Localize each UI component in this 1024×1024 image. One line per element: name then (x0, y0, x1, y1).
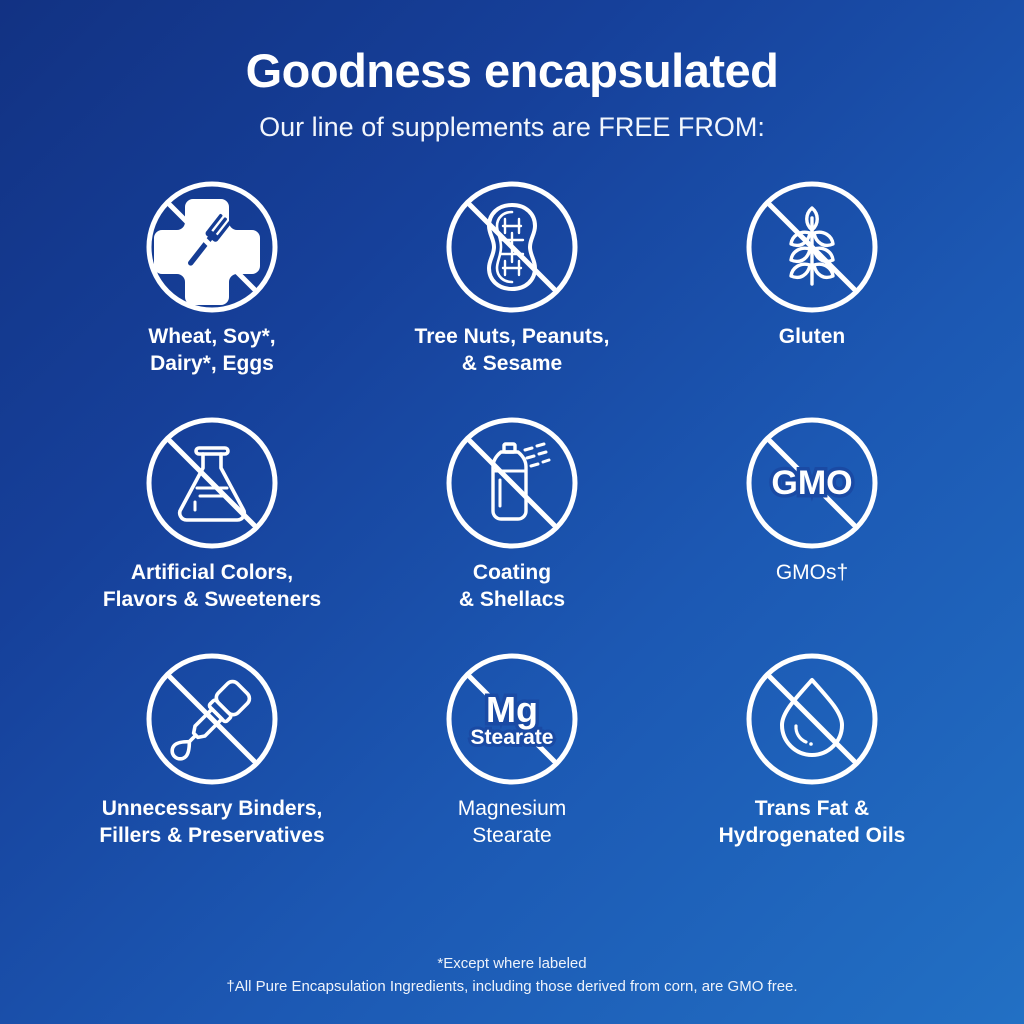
no-dropper-icon (143, 650, 281, 788)
infographic-poster: Goodness encapsulated Our line of supple… (0, 0, 1024, 1024)
grid-item-label: Magnesium Stearate (458, 796, 567, 850)
no-peanut-icon (443, 178, 581, 316)
stearate-inner-text: Stearate (471, 726, 554, 749)
no-magnesium-stearate-text-icon: Mg Stearate (443, 650, 581, 788)
no-flask-icon (143, 414, 281, 552)
no-spray-can-icon (443, 414, 581, 552)
grid-item-magnesium-stearate: Mg Stearate Magnesium Stearate (362, 650, 662, 886)
free-from-grid: Wheat, Soy*, Dairy*, Eggs (62, 178, 962, 886)
header: Goodness encapsulated Our line of supple… (0, 0, 1024, 142)
grid-item-label: Trans Fat & Hydrogenated Oils (719, 796, 906, 850)
grid-item-label: Gluten (779, 324, 846, 351)
mg-inner-text: Mg (486, 689, 538, 730)
grid-item-coating: Coating & Shellacs (362, 414, 662, 650)
no-oil-droplet-icon (743, 650, 881, 788)
page-title: Goodness encapsulated (0, 46, 1024, 97)
grid-item-label: Unnecessary Binders, Fillers & Preservat… (99, 796, 324, 850)
grid-item-gluten: Gluten (662, 178, 962, 414)
no-wheat-stalk-icon (743, 178, 881, 316)
gmo-inner-text: GMO (771, 464, 852, 502)
no-gmo-text-icon: GMO (743, 414, 881, 552)
grid-item-gmo: GMO GMOs† (662, 414, 962, 650)
grid-item-label: Tree Nuts, Peanuts, & Sesame (415, 324, 610, 378)
no-allergen-cross-fork-icon (143, 178, 281, 316)
grid-item-label: Coating & Shellacs (459, 560, 565, 614)
page-subtitle: Our line of supplements are FREE FROM: (0, 113, 1024, 143)
grid-item-label: GMOs† (776, 560, 848, 587)
grid-item-label: Artificial Colors, Flavors & Sweeteners (103, 560, 321, 614)
grid-item-binders: Unnecessary Binders, Fillers & Preservat… (62, 650, 362, 886)
grid-item-trans-fat: Trans Fat & Hydrogenated Oils (662, 650, 962, 886)
footnotes: *Except where labeled †All Pure Encapsul… (0, 952, 1024, 999)
grid-item-nuts: Tree Nuts, Peanuts, & Sesame (362, 178, 662, 414)
footnote-dagger: †All Pure Encapsulation Ingredients, inc… (0, 975, 1024, 998)
grid-item-artificial-colors: Artificial Colors, Flavors & Sweeteners (62, 414, 362, 650)
grid-item-label: Wheat, Soy*, Dairy*, Eggs (148, 324, 275, 378)
footnote-asterisk: *Except where labeled (0, 952, 1024, 975)
grid-item-allergens: Wheat, Soy*, Dairy*, Eggs (62, 178, 362, 414)
